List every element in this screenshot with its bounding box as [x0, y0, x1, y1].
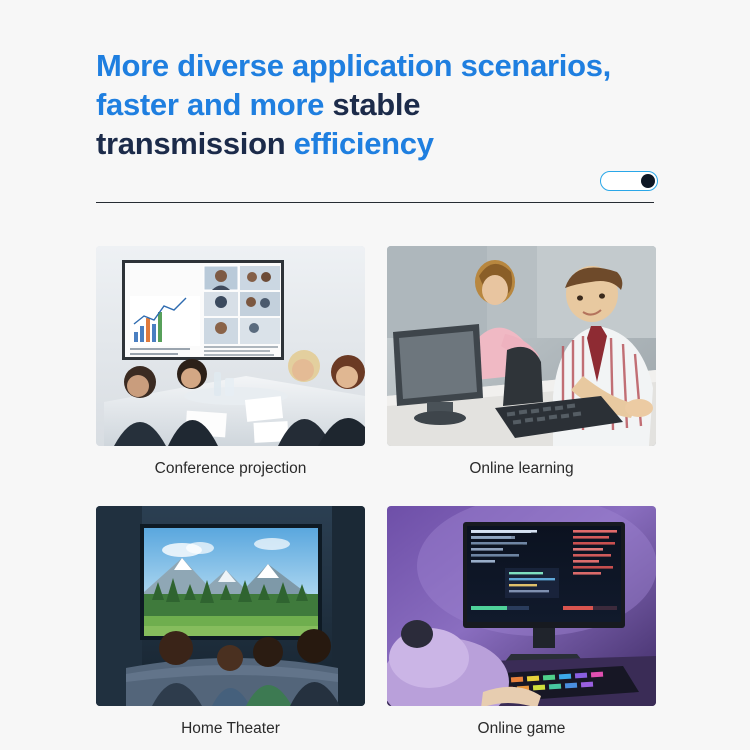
home-theater-illustration: [96, 506, 365, 706]
scenario-card-home-theater[interactable]: Home Theater: [96, 506, 365, 738]
conference-projection-photo: [96, 246, 365, 446]
scenario-card-grid: Conference projection: [96, 246, 656, 738]
toggle-switch[interactable]: [600, 171, 658, 191]
online-game-photo: [387, 506, 656, 706]
headline-line-2: faster and more stable: [96, 85, 676, 124]
conference-projection-illustration: [96, 246, 365, 446]
scenario-card-online-game[interactable]: Online game: [387, 506, 656, 738]
online-learning-photo: [387, 246, 656, 446]
headline-line-2-dark: stable: [332, 87, 420, 122]
online-game-illustration: [387, 506, 656, 706]
headline-line-1: More diverse application scenarios,: [96, 46, 676, 85]
home-theater-photo: [96, 506, 365, 706]
scenario-caption-conference: Conference projection: [96, 460, 365, 478]
online-learning-illustration: [387, 246, 656, 446]
scenario-card-conference[interactable]: Conference projection: [96, 246, 365, 478]
headline-line-3: transmission efficiency: [96, 124, 676, 163]
headline-line-3-dark: transmission: [96, 126, 294, 161]
scenario-caption-online-game: Online game: [387, 720, 656, 738]
section-divider: [96, 202, 654, 203]
headline-line-3-blue: efficiency: [294, 126, 434, 161]
page-root: More diverse application scenarios, fast…: [0, 0, 750, 750]
scenario-caption-home-theater: Home Theater: [96, 720, 365, 738]
scenario-caption-online-learning: Online learning: [387, 460, 656, 478]
page-title: More diverse application scenarios, fast…: [96, 46, 676, 163]
headline-line-2-blue: faster and more: [96, 87, 332, 122]
toggle-knob[interactable]: [641, 174, 655, 188]
scenario-card-online-learning[interactable]: Online learning: [387, 246, 656, 478]
